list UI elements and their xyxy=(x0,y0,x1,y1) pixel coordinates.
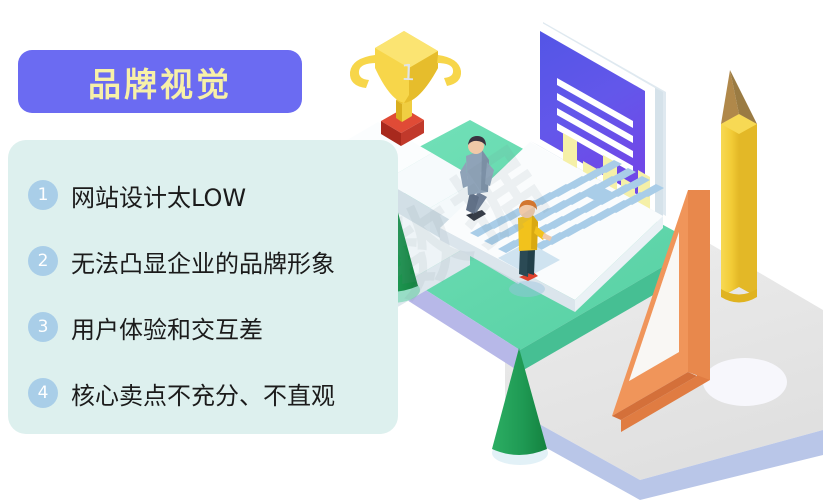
title-text: 品牌视觉 xyxy=(88,58,232,106)
list-item-number: 1 xyxy=(28,180,58,210)
list-item-label: 核心卖点不充分、不直观 xyxy=(71,376,335,411)
list-item-number: 3 xyxy=(28,312,58,342)
list-item-label: 无法凸显企业的品牌形象 xyxy=(71,244,335,279)
platform-ellipse xyxy=(703,358,787,406)
list-item-number: 2 xyxy=(28,246,58,276)
pencil xyxy=(721,70,757,303)
list-item: 3 用户体验和交互差 xyxy=(28,294,398,360)
points-panel: 1 网站设计太LOW 2 无法凸显企业的品牌形象 3 用户体验和交互差 4 核心… xyxy=(8,140,398,434)
svg-text:1: 1 xyxy=(401,61,416,86)
list-item: 4 核心卖点不充分、不直观 xyxy=(28,360,398,426)
list-item: 1 网站设计太LOW xyxy=(28,162,398,228)
illustration-stage: 1 xyxy=(0,0,823,500)
list-item-label: 用户体验和交互差 xyxy=(71,310,263,345)
list-item-label: 网站设计太LOW xyxy=(71,178,246,213)
list-item-number: 4 xyxy=(28,378,58,408)
title-badge: 品牌视觉 xyxy=(18,50,302,113)
list-item: 2 无法凸显企业的品牌形象 xyxy=(28,228,398,294)
